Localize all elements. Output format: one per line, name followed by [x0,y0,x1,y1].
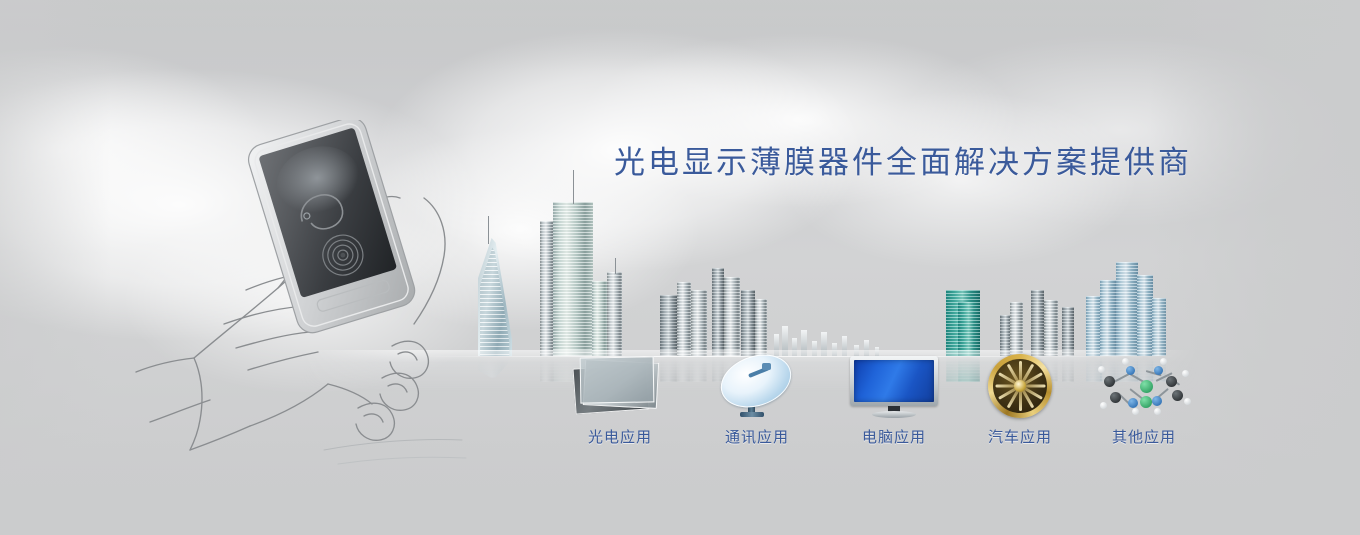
app-label-automotive: 汽车应用 [960,426,1080,447]
satellite-dish-icon [697,352,817,420]
app-item-automotive[interactable]: 汽车应用 [960,352,1080,447]
app-label-optoelectronic: 光电应用 [560,426,680,447]
app-item-communication[interactable]: 通讯应用 [697,352,817,447]
hand-holding-smartphone-sketch [128,120,478,500]
app-label-other: 其他应用 [1084,426,1204,447]
molecule-icon [1084,352,1204,420]
computer-monitor-icon [834,352,954,420]
app-item-other[interactable]: 其他应用 [1084,352,1204,447]
page-title: 光电显示薄膜器件全面解决方案提供商 [614,137,1192,182]
app-item-computer[interactable]: 电脑应用 [834,352,954,447]
banner-stage: 光电显示薄膜器件全面解决方案提供商 光电应用 通讯应用 [0,0,1360,535]
glass-panels-icon [560,352,680,420]
app-item-optoelectronic[interactable]: 光电应用 [560,352,680,447]
app-label-computer: 电脑应用 [834,426,954,447]
application-icons-row: 光电应用 通讯应用 电脑应用 [560,352,1200,462]
app-label-communication: 通讯应用 [697,426,817,447]
car-wheel-icon [960,352,1080,420]
